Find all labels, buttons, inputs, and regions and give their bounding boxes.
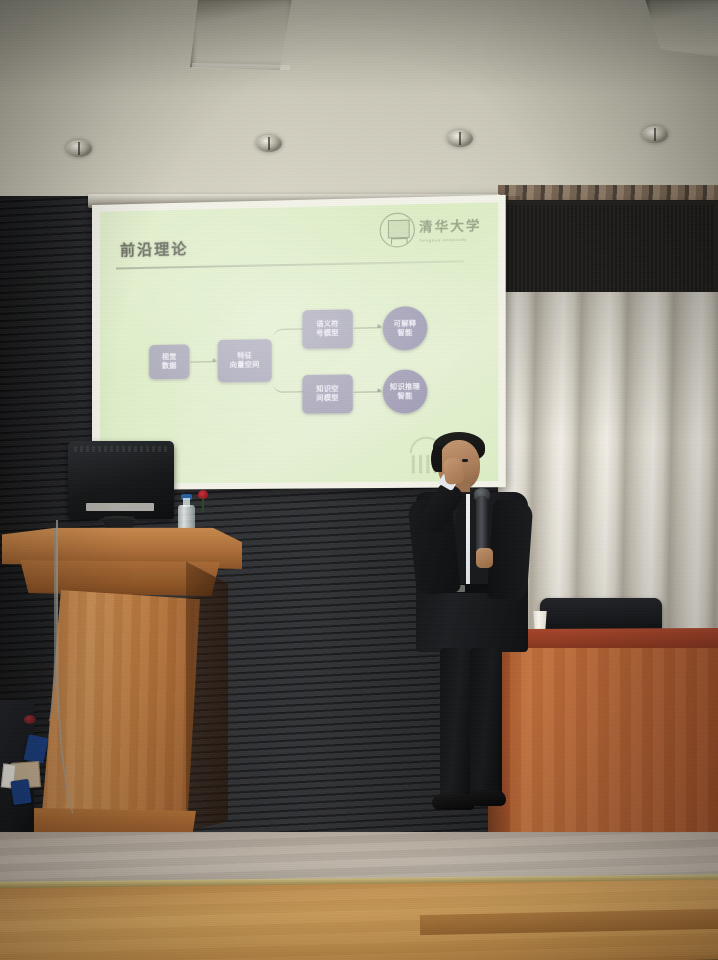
diagram-arrow-icon [378, 388, 382, 392]
ceiling-shading [0, 0, 718, 210]
downlight-4 [642, 126, 668, 143]
node-label: 可解释智能 [394, 319, 417, 338]
node-label: 特征向量空间 [230, 351, 260, 370]
node-label: 知识推理智能 [390, 382, 420, 401]
cable-gray-2 [30, 528, 56, 728]
speaker-leg-right [470, 648, 502, 798]
diagram-branch-lower [273, 360, 304, 393]
speaker-hand-holding-mic [476, 548, 493, 568]
diagram-arrow-icon [213, 358, 217, 362]
diagram-arrow-icon [378, 324, 382, 328]
diagram-node-semantic-symbol-model: 语义符号模型 [302, 309, 352, 348]
speaker-arm-right [487, 499, 534, 602]
speaker-presenter [404, 424, 544, 824]
monitor-brand-strip [86, 503, 154, 511]
chair-backrest [540, 598, 662, 632]
red-indicator-knob [24, 715, 36, 724]
downlight-1 [66, 140, 92, 157]
rose-stem [202, 498, 204, 512]
downlight-slit [268, 137, 270, 150]
diagram-node-feature-vector-space: 特征向量空间 [218, 339, 272, 382]
podium-side-shadow [186, 556, 228, 832]
podium-monitor [68, 441, 174, 519]
cable-connector-bundle [0, 730, 56, 826]
node-label: 语义符号模型 [316, 320, 339, 339]
node-label: 知识空间模型 [316, 385, 339, 404]
podium-mic-cord [96, 516, 140, 532]
diagram-node-knowledge-space-model: 知识空间模型 [302, 374, 352, 413]
microphone [476, 496, 488, 554]
soffit-dark-panel [500, 200, 718, 298]
lecture-hall-photo: 前沿理论 清华大学 Tsinghua University 视觉数据 [0, 0, 718, 960]
vga-connector-2 [10, 779, 31, 805]
vga-connector-1 [24, 734, 49, 764]
node-label: 视觉数据 [162, 353, 177, 371]
speaker-hair-side [431, 446, 442, 472]
diagram-node-output-reasoning: 知识推理智能 [383, 369, 428, 413]
speaker-eye-right [462, 459, 468, 462]
downlight-slit [654, 128, 656, 141]
diagram-branch-upper [273, 328, 304, 361]
downlight-slit [78, 142, 80, 155]
diagram-node-output-explainable: 可解释智能 [383, 306, 428, 351]
speaker-shoe-right [466, 790, 506, 806]
speaker-leg-left [440, 648, 471, 800]
downlight-2 [256, 135, 282, 152]
downlight-3 [447, 130, 473, 147]
diagram-node-visual-data: 视觉数据 [149, 344, 189, 379]
downlight-slit [459, 132, 461, 145]
